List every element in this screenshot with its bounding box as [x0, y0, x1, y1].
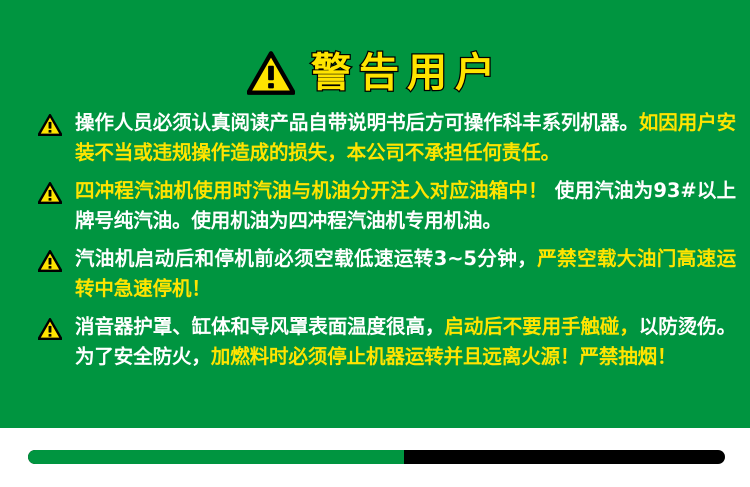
- warning-notice-page: 警告用户 操作人员必须认真阅读产品自带说明书后方可操作科丰系列机器。如因用户安装…: [0, 0, 750, 487]
- warning-text-segment: 汽油机启动后和停机前必须空载低速运转3~5分钟，: [75, 247, 537, 270]
- list-item: 汽油机启动后和停机前必须空载低速运转3~5分钟，严禁空载大油门高速运转中急速停机…: [0, 244, 750, 304]
- warning-triangle-icon: [38, 114, 62, 136]
- list-item: 消音器护罩、缸体和导风罩表面温度很高，启动后不要用手触碰，以防烫伤。为了安全防火…: [0, 312, 750, 372]
- page-title: 警告用户: [311, 53, 503, 93]
- warning-text: 消音器护罩、缸体和导风罩表面温度很高，启动后不要用手触碰，以防烫伤。为了安全防火…: [75, 312, 736, 372]
- warning-text-segment-emphasis: 加燃料时必须停止机器运转并且远离火源！严禁抽烟！: [211, 345, 677, 368]
- page-title-row: 警告用户: [0, 44, 750, 102]
- warning-text-segment: 消音器护罩、缸体和导风罩表面温度很高，: [75, 315, 444, 338]
- progress-bar[interactable]: [28, 450, 725, 464]
- warning-text: 操作人员必须认真阅读产品自带说明书后方可操作科丰系列机器。如因用户安装不当或违规…: [75, 108, 736, 168]
- warning-panel: 警告用户 操作人员必须认真阅读产品自带说明书后方可操作科丰系列机器。如因用户安装…: [0, 0, 750, 428]
- warning-text-segment-emphasis: 启动后不要用手触碰，: [444, 315, 638, 338]
- warning-text-segment: 操作人员必须认真阅读产品自带说明书后方可操作科丰系列机器。: [75, 111, 639, 134]
- list-item: 操作人员必须认真阅读产品自带说明书后方可操作科丰系列机器。如因用户安装不当或违规…: [0, 108, 750, 168]
- warning-text: 汽油机启动后和停机前必须空载低速运转3~5分钟，严禁空载大油门高速运转中急速停机…: [75, 244, 736, 304]
- list-item: 四冲程汽油机使用时汽油与机油分开注入对应油箱中！ 使用汽油为93#以上牌号纯汽油…: [0, 176, 750, 236]
- warning-triangle-icon: [38, 318, 62, 340]
- warning-text-segment-emphasis: 四冲程汽油机使用时汽油与机油分开注入对应油箱中！: [75, 179, 548, 202]
- warning-triangle-icon: [247, 51, 295, 95]
- warning-list: 操作人员必须认真阅读产品自带说明书后方可操作科丰系列机器。如因用户安装不当或违规…: [0, 108, 750, 380]
- warning-triangle-icon: [38, 250, 62, 272]
- warning-triangle-icon: [38, 182, 62, 204]
- progress-bar-fill: [28, 450, 404, 464]
- warning-text: 四冲程汽油机使用时汽油与机油分开注入对应油箱中！ 使用汽油为93#以上牌号纯汽油…: [75, 176, 736, 236]
